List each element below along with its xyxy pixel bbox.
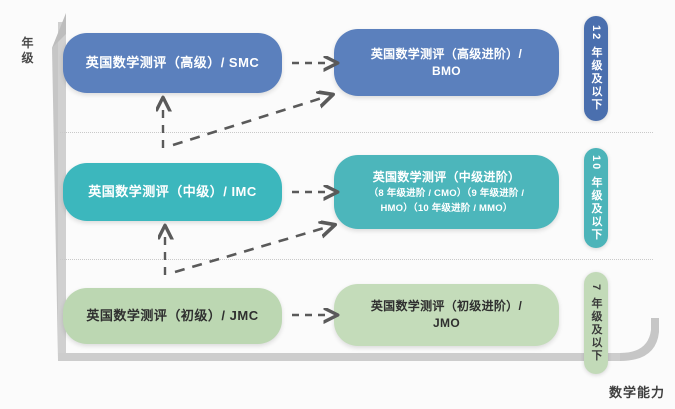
node-jmo-line1: 英国数学测评（初级进阶）/	[371, 298, 522, 315]
node-bmo-line1: 英国数学测评（高级进阶）/	[371, 46, 522, 63]
node-imc-label: 英国数学测评（中级）/ IMC	[88, 183, 257, 201]
node-smc-label: 英国数学测评（高级）/ SMC	[86, 54, 260, 72]
diagram-canvas: 年级 数学能力 英国数学测评（高级）/ SMC 英国数学测评（高级进阶）/ BM…	[0, 0, 675, 409]
grade-pill-7: 7 年级及以下	[584, 272, 608, 374]
y-axis-label: 年级	[18, 36, 38, 66]
node-intermediate-advanced[interactable]: 英国数学测评（中级进阶） （8 年级进阶 / CMO）（9 年级进阶 / HMO…	[334, 155, 559, 229]
node-jmc-label: 英国数学测评（初级）/ JMC	[86, 307, 258, 325]
node-jmo-line2: JMO	[433, 315, 460, 332]
grade-pill-12: 12 年级及以下	[584, 16, 608, 121]
node-imc[interactable]: 英国数学测评（中级）/ IMC	[63, 163, 282, 221]
node-bmo-line2: BMO	[432, 63, 461, 80]
node-intermediate-advanced-line2: （8 年级进阶 / CMO）（9 年级进阶 /	[369, 186, 525, 201]
node-intermediate-advanced-line1: 英国数学测评（中级进阶）	[373, 169, 521, 186]
x-axis-label: 数学能力	[609, 382, 665, 401]
grade-pill-7-label: 7 年级及以下	[584, 284, 608, 362]
grade-pill-10-label: 10 年级及以下	[584, 155, 608, 241]
node-smc[interactable]: 英国数学测评（高级）/ SMC	[63, 33, 282, 93]
node-jmc[interactable]: 英国数学测评（初级）/ JMC	[63, 288, 282, 344]
node-intermediate-advanced-line3: HMO）（10 年级进阶 / MMO）	[380, 201, 512, 216]
row-divider-upper	[60, 132, 653, 133]
node-bmo[interactable]: 英国数学测评（高级进阶）/ BMO	[334, 29, 559, 96]
node-jmo[interactable]: 英国数学测评（初级进阶）/ JMO	[334, 284, 559, 346]
grade-pill-10: 10 年级及以下	[584, 148, 608, 248]
row-divider-lower	[60, 259, 653, 260]
grade-pill-12-label: 12 年级及以下	[584, 25, 608, 111]
